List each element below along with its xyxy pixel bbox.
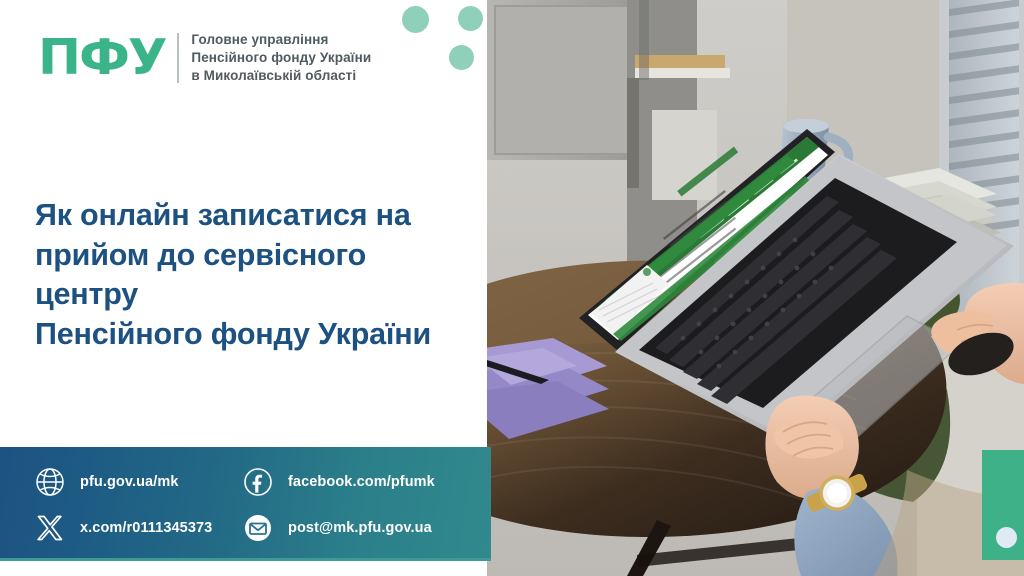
org-line-2: Пенсійного фонду України [191,49,371,67]
mint-dot-icon [449,45,474,70]
contacts-grid: pfu.gov.ua/mk facebook.com/pfumk x. [33,459,435,551]
contact-website[interactable]: pfu.gov.ua/mk [33,465,241,499]
org-line-3: в Миколаївській області [191,67,371,85]
footer-underline [0,558,491,561]
contact-email-label: post@mk.pfu.gov.ua [288,520,432,536]
contact-footer: pfu.gov.ua/mk facebook.com/pfumk x. [0,447,491,558]
globe-icon [33,465,67,499]
pfu-logo: ПФУ Головне управління Пенсійного фонду … [38,31,371,85]
contact-x-twitter[interactable]: x.com/r0111345373 [33,511,241,545]
contact-x-label: x.com/r0111345373 [80,520,212,536]
contact-facebook[interactable]: facebook.com/pfumk [241,465,435,499]
headline-line-3: Пенсійного фонду України [35,315,465,355]
pale-circle-icon [996,527,1017,548]
mint-dot-icon [458,6,483,31]
headline-line-2: прийом до сервісного центру [35,236,465,315]
contact-facebook-label: facebook.com/pfumk [288,474,435,490]
page-title: Як онлайн записатися на прийом до сервіс… [35,196,465,355]
headline-line-1: Як онлайн записатися на [35,196,465,236]
x-twitter-icon [33,511,67,545]
facebook-icon [241,465,275,499]
office-photo [487,0,1024,576]
pfu-logo-mark: ПФУ [38,33,165,82]
email-icon [241,511,275,545]
contact-email[interactable]: post@mk.pfu.gov.ua [241,511,435,545]
contact-website-label: pfu.gov.ua/mk [80,474,179,490]
poster-canvas: ПФУ Головне управління Пенсійного фонду … [0,0,1024,576]
organization-name: Головне управління Пенсійного фонду Укра… [191,31,371,85]
org-line-1: Головне управління [191,31,371,49]
mint-dot-icon [402,6,429,33]
logo-divider [177,33,179,83]
